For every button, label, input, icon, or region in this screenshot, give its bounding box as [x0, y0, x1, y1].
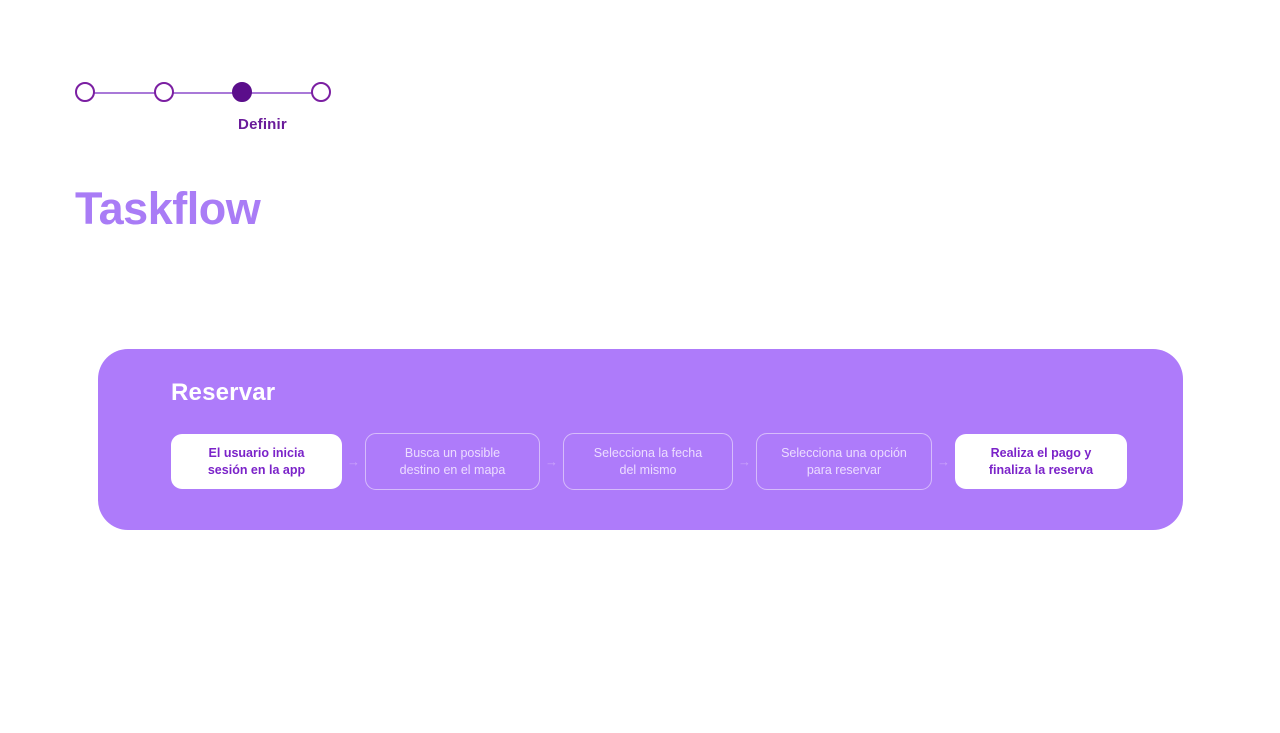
flow-step-card-1[interactable]: El usuario inicia sesión en la app — [171, 434, 342, 489]
panel-title: Reservar — [171, 379, 275, 407]
stepper-dot-4[interactable] — [311, 82, 331, 102]
taskflow-panel: Reservar El usuario inicia sesión en la … — [98, 349, 1183, 530]
stepper-dot-2[interactable] — [154, 82, 174, 102]
flow-arrow-icon-2: → — [540, 455, 563, 468]
flow-step-list: El usuario inicia sesión en la app → Bus… — [171, 433, 1127, 490]
flow-arrow-icon-4: → — [932, 455, 955, 468]
page-title: Taskflow — [75, 186, 260, 231]
progress-stepper — [75, 78, 335, 108]
stepper-dot-3-active[interactable] — [232, 82, 252, 102]
stepper-track — [84, 92, 324, 94]
flow-arrow-icon-3: → — [733, 455, 756, 468]
flow-step-card-2[interactable]: Busca un posible destino en el mapa — [365, 433, 540, 490]
stepper-active-label: Definir — [75, 116, 450, 133]
flow-arrow-icon-1: → — [342, 455, 365, 468]
flow-step-card-4[interactable]: Selecciona una opción para reservar — [756, 433, 932, 490]
flow-step-card-3[interactable]: Selecciona la fecha del mismo — [563, 433, 733, 490]
stepper-dot-1[interactable] — [75, 82, 95, 102]
flow-step-card-5[interactable]: Realiza el pago y finaliza la reserva — [955, 434, 1127, 489]
